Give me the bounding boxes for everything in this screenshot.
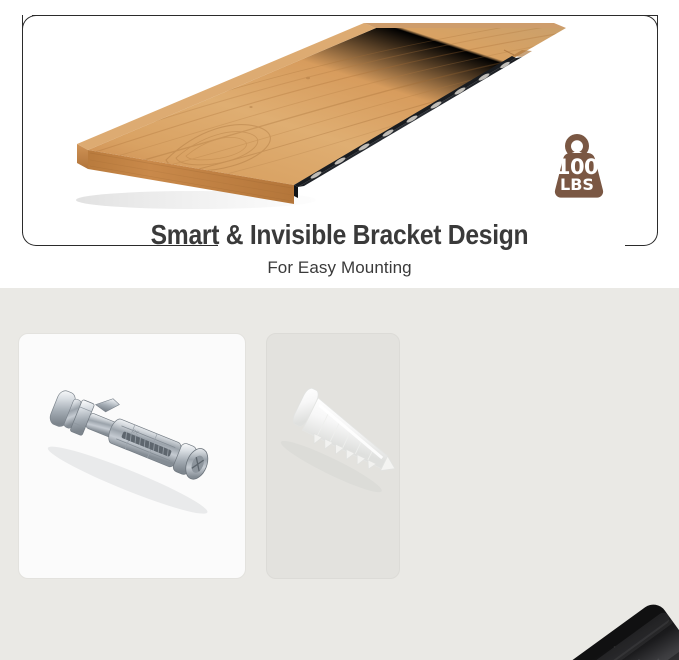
top-panel: 100 LBS Smart & Invisible Bracket Design…: [0, 0, 679, 288]
frame-edge-left: [22, 15, 23, 233]
plastic-anchor-card: [266, 333, 400, 579]
frame-corner-top-left: [22, 15, 44, 37]
headline-smart-invisible-bracket-design: Smart & Invisible Bracket Design: [41, 219, 639, 251]
iron-pipe-product-image: [392, 588, 679, 660]
subline-for-easy-mounting: For Easy Mounting: [0, 258, 679, 278]
metal-anchor-image: CE: [19, 334, 245, 578]
product-feature-graphic: 100 LBS Smart & Invisible Bracket Design…: [0, 0, 679, 660]
frame-corner-bottom-right: [636, 224, 658, 246]
floating-shelf-product-image: [46, 10, 566, 215]
metal-anchor-card: CE: [18, 333, 246, 579]
bottom-panel: CE: [0, 288, 679, 660]
plastic-anchor-image: [267, 334, 399, 578]
weight-capacity-badge: 100 LBS: [541, 131, 613, 203]
frame-corner-top-right: [636, 15, 658, 37]
frame-edge-right: [657, 15, 658, 233]
weight-kettlebell-icon: [541, 131, 613, 203]
